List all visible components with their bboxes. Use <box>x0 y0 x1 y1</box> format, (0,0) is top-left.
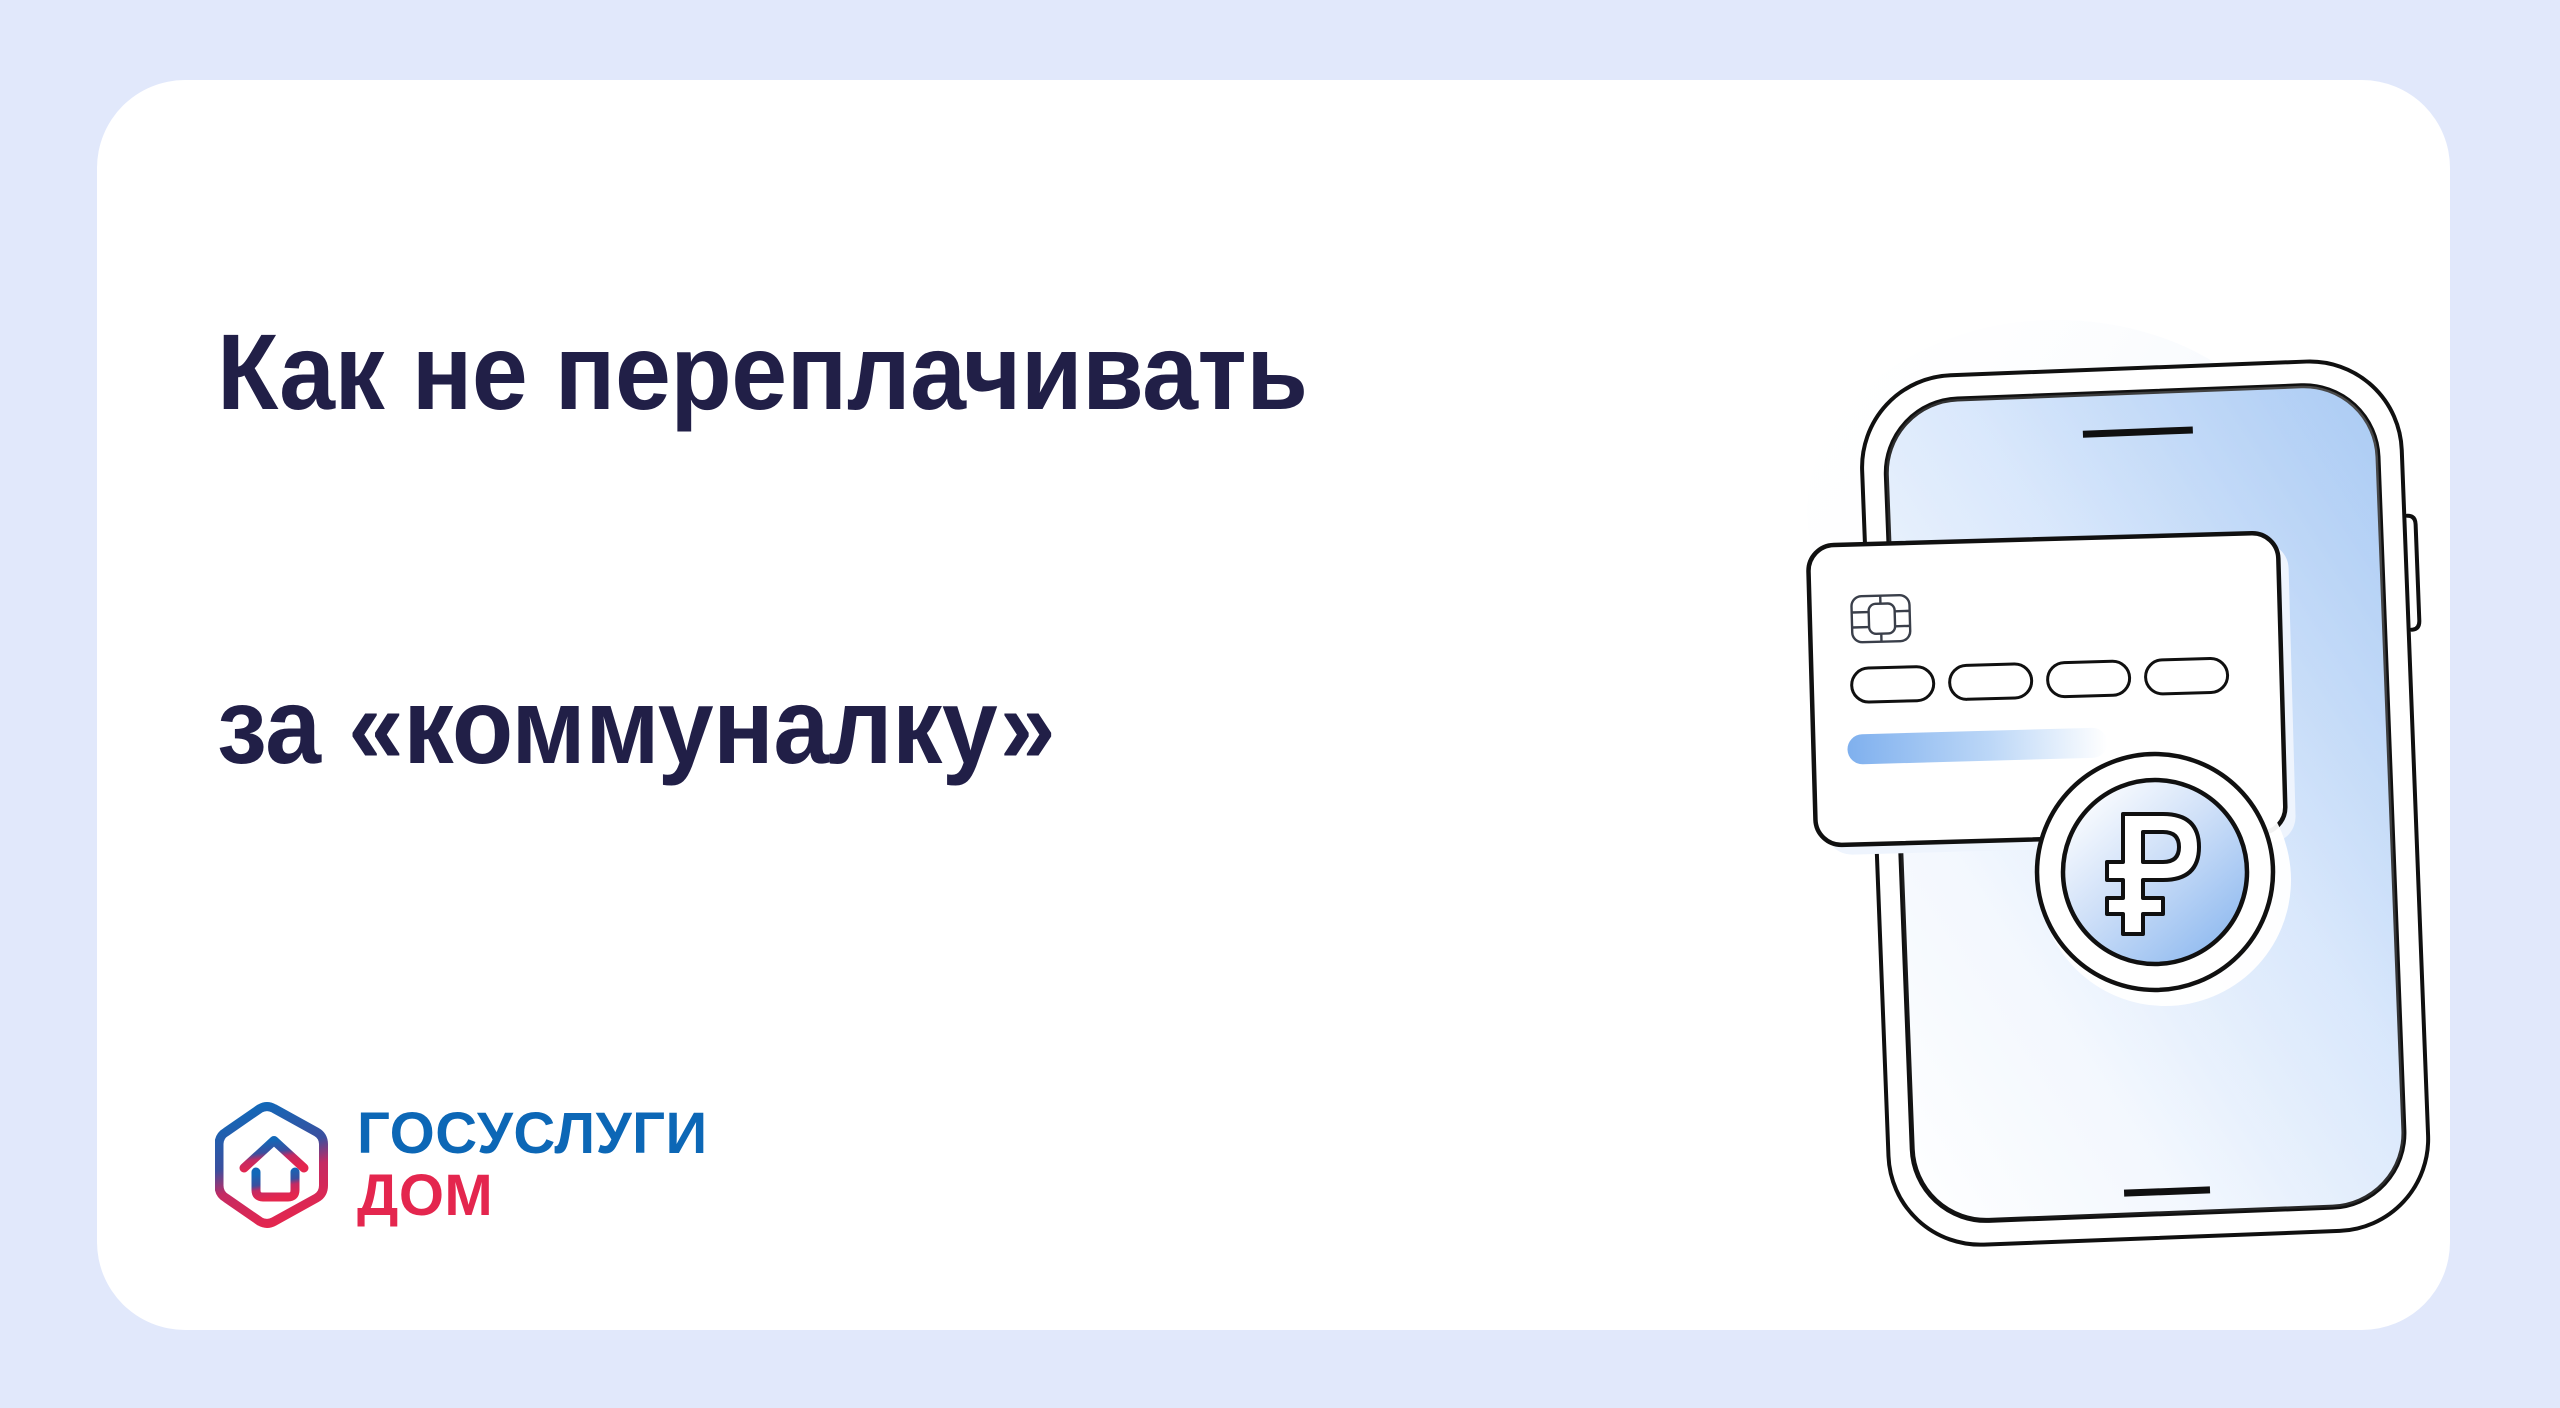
house-in-hexagon-icon <box>215 1102 333 1228</box>
card-number-group <box>2047 661 2130 697</box>
brand-logo[interactable]: ГОСУСЛУГИ ДОМ <box>215 1102 708 1228</box>
home-indicator <box>2124 1190 2210 1193</box>
page-title: Как не переплачивать за «коммуналку» <box>217 102 1566 1026</box>
brand-word-gosuslugi: ГОСУСЛУГИ <box>357 1106 708 1162</box>
headline-line-2: за «коммуналку» <box>217 672 1566 780</box>
headline-line-1: Как не переплачивать <box>217 318 1566 426</box>
card-number-group <box>1949 664 2032 700</box>
brand-wordmark: ГОСУСЛУГИ ДОМ <box>357 1106 708 1223</box>
poster-canvas: Как не переплачивать за «коммуналку» <box>0 0 2560 1408</box>
ruble-coin-icon <box>2037 754 2291 1006</box>
card-number-group <box>2145 658 2228 694</box>
phone-card-coin-illustration <box>1757 280 2450 1280</box>
speaker-slot <box>2083 430 2193 434</box>
hero-illustration <box>1757 280 2450 1280</box>
content-card: Как не переплачивать за «коммуналку» <box>97 80 2450 1330</box>
card-number-group <box>1851 666 1934 702</box>
brand-word-dom: ДОМ <box>357 1168 708 1224</box>
